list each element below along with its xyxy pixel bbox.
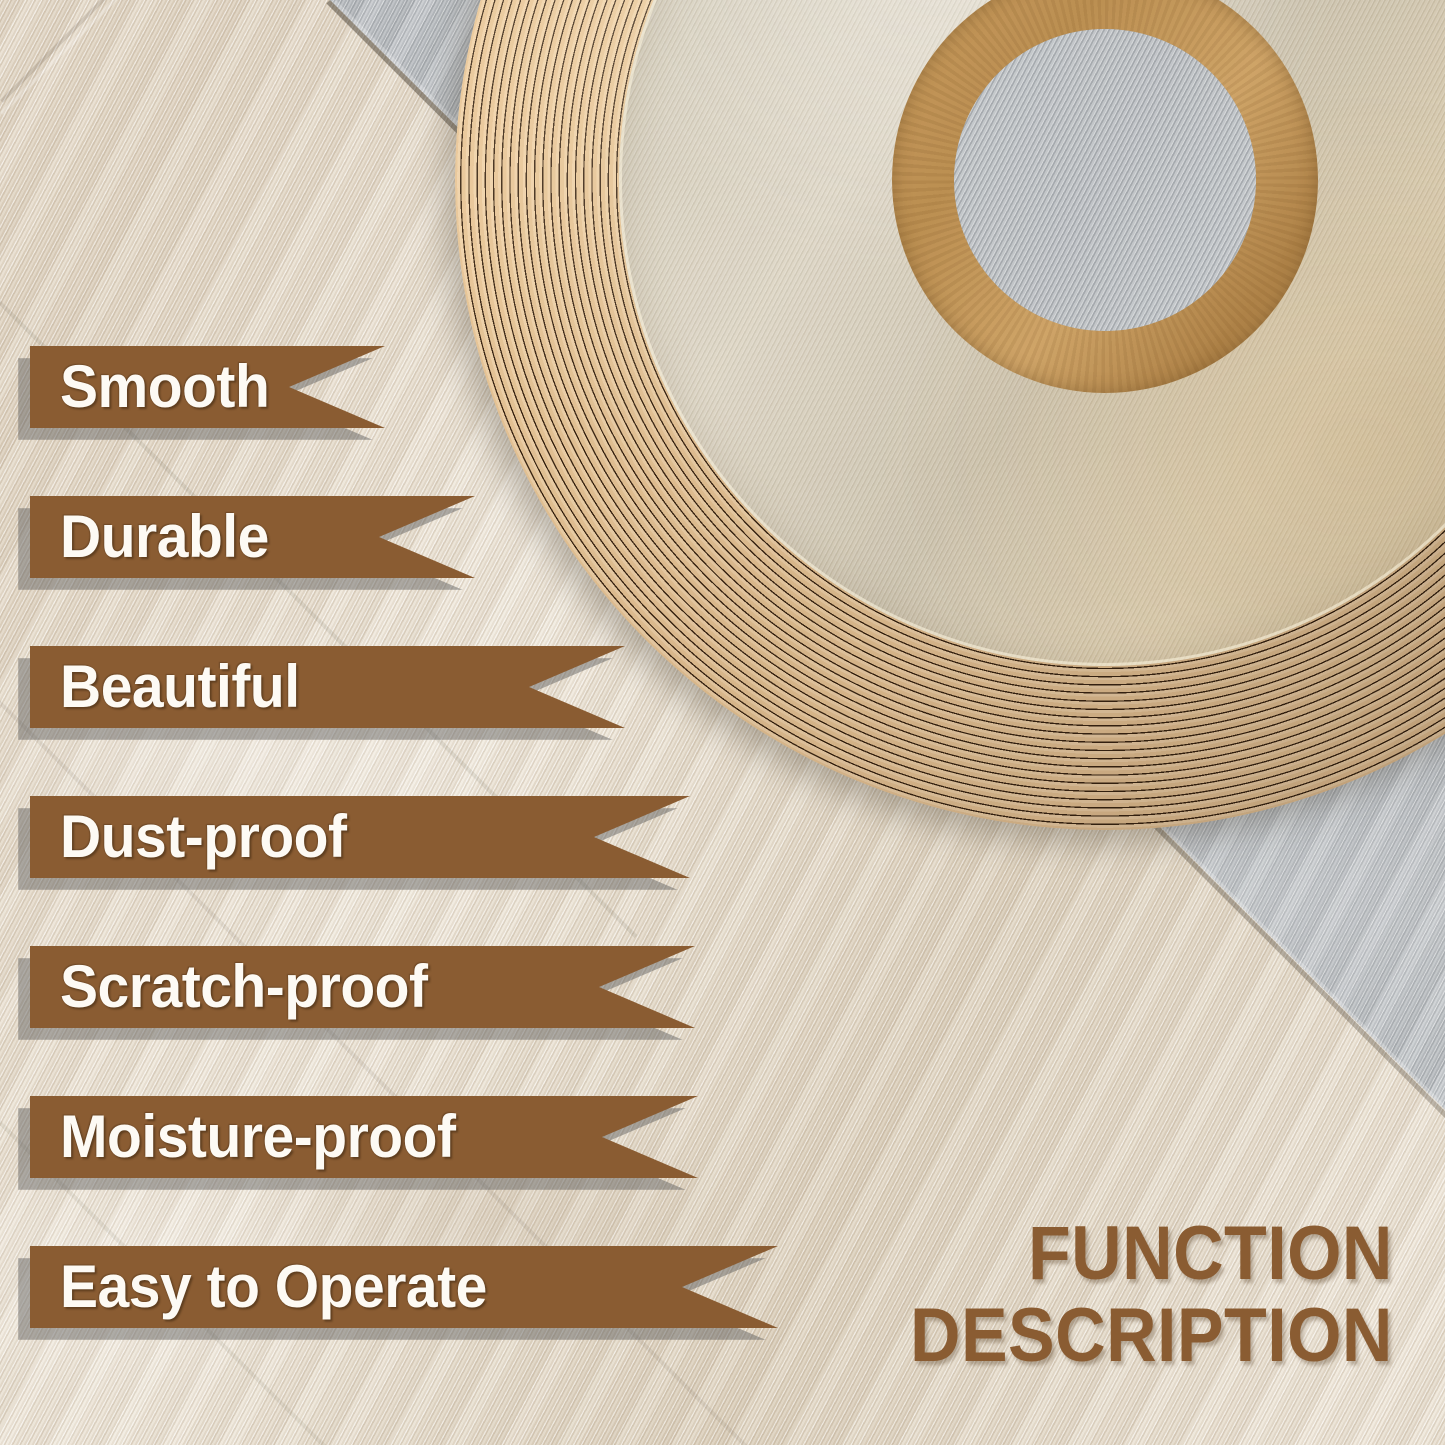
feature-banner-label: Dust-proof [60, 807, 347, 867]
feature-banner-label: Scratch-proof [60, 957, 428, 1017]
feature-banner: Dust-proof [30, 796, 690, 878]
feature-banner-label: Easy to Operate [60, 1257, 487, 1317]
product-infographic: SmoothDurableBeautifulDust-proofScratch-… [0, 0, 1445, 1445]
feature-banner-label: Moisture-proof [60, 1107, 455, 1167]
heading-line-2: DESCRIPTION [910, 1295, 1393, 1377]
tape-roll-hole [954, 29, 1256, 331]
tape-roll-hole-background [954, 29, 1256, 331]
feature-banner: Scratch-proof [30, 946, 695, 1028]
feature-banner-label: Smooth [60, 357, 269, 417]
feature-banner: Easy to Operate [30, 1246, 778, 1328]
heading-line-1: FUNCTION [910, 1213, 1393, 1295]
feature-banner: Moisture-proof [30, 1096, 698, 1178]
feature-banner-label: Durable [60, 507, 269, 567]
function-description-heading: FUNCTION DESCRIPTION [910, 1213, 1393, 1377]
feature-banner-label: Beautiful [60, 657, 300, 717]
